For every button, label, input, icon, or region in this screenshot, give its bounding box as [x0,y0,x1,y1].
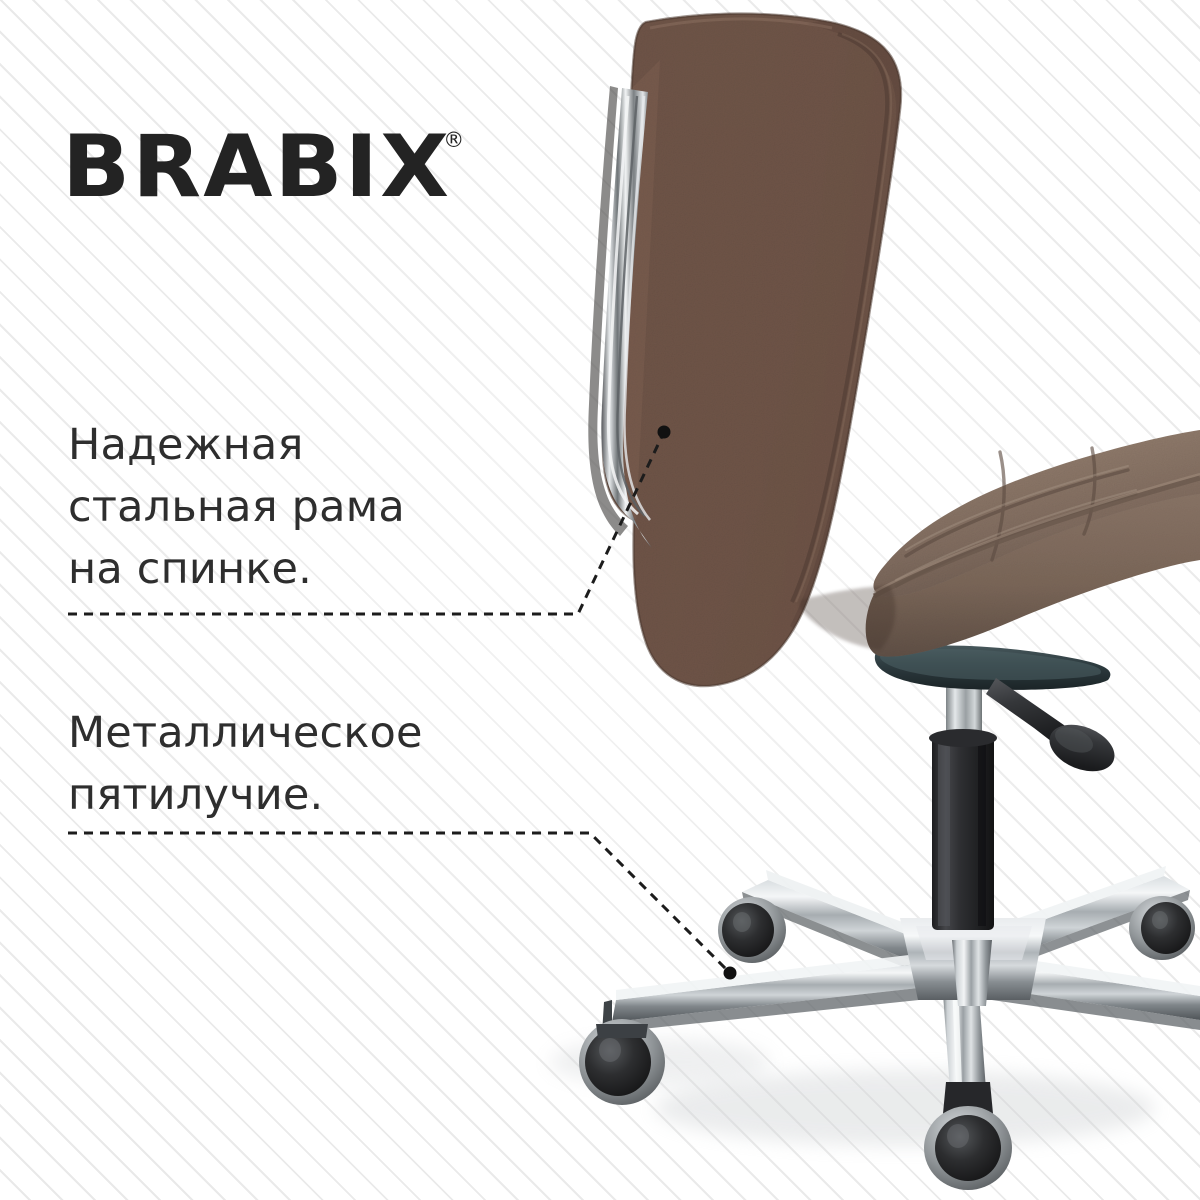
backrest-seat-shadow [800,586,895,650]
base-arm-left [602,952,938,1034]
brabix-logo: BRABIX ® [62,124,464,210]
caster-rear-right [1129,896,1195,960]
caster-rear-left [718,897,786,963]
caster-front-left [579,1019,665,1105]
poster-canvas: BRABIX ® Надежная стальная рама на спинк… [0,0,1200,1200]
feature-caption-steel-frame: Надежная стальная рама на спинке. [68,414,405,600]
gas-lift-cylinder [929,673,997,930]
feature-caption-five-star-base: Металлическое пятилучие. [68,702,423,826]
height-adjust-lever[interactable] [986,678,1121,780]
base-hub [900,918,1046,1006]
seat-cushion [866,430,1200,657]
brabix-wordmark: BRABIX [62,124,451,210]
floor-shadow [655,1070,1155,1146]
